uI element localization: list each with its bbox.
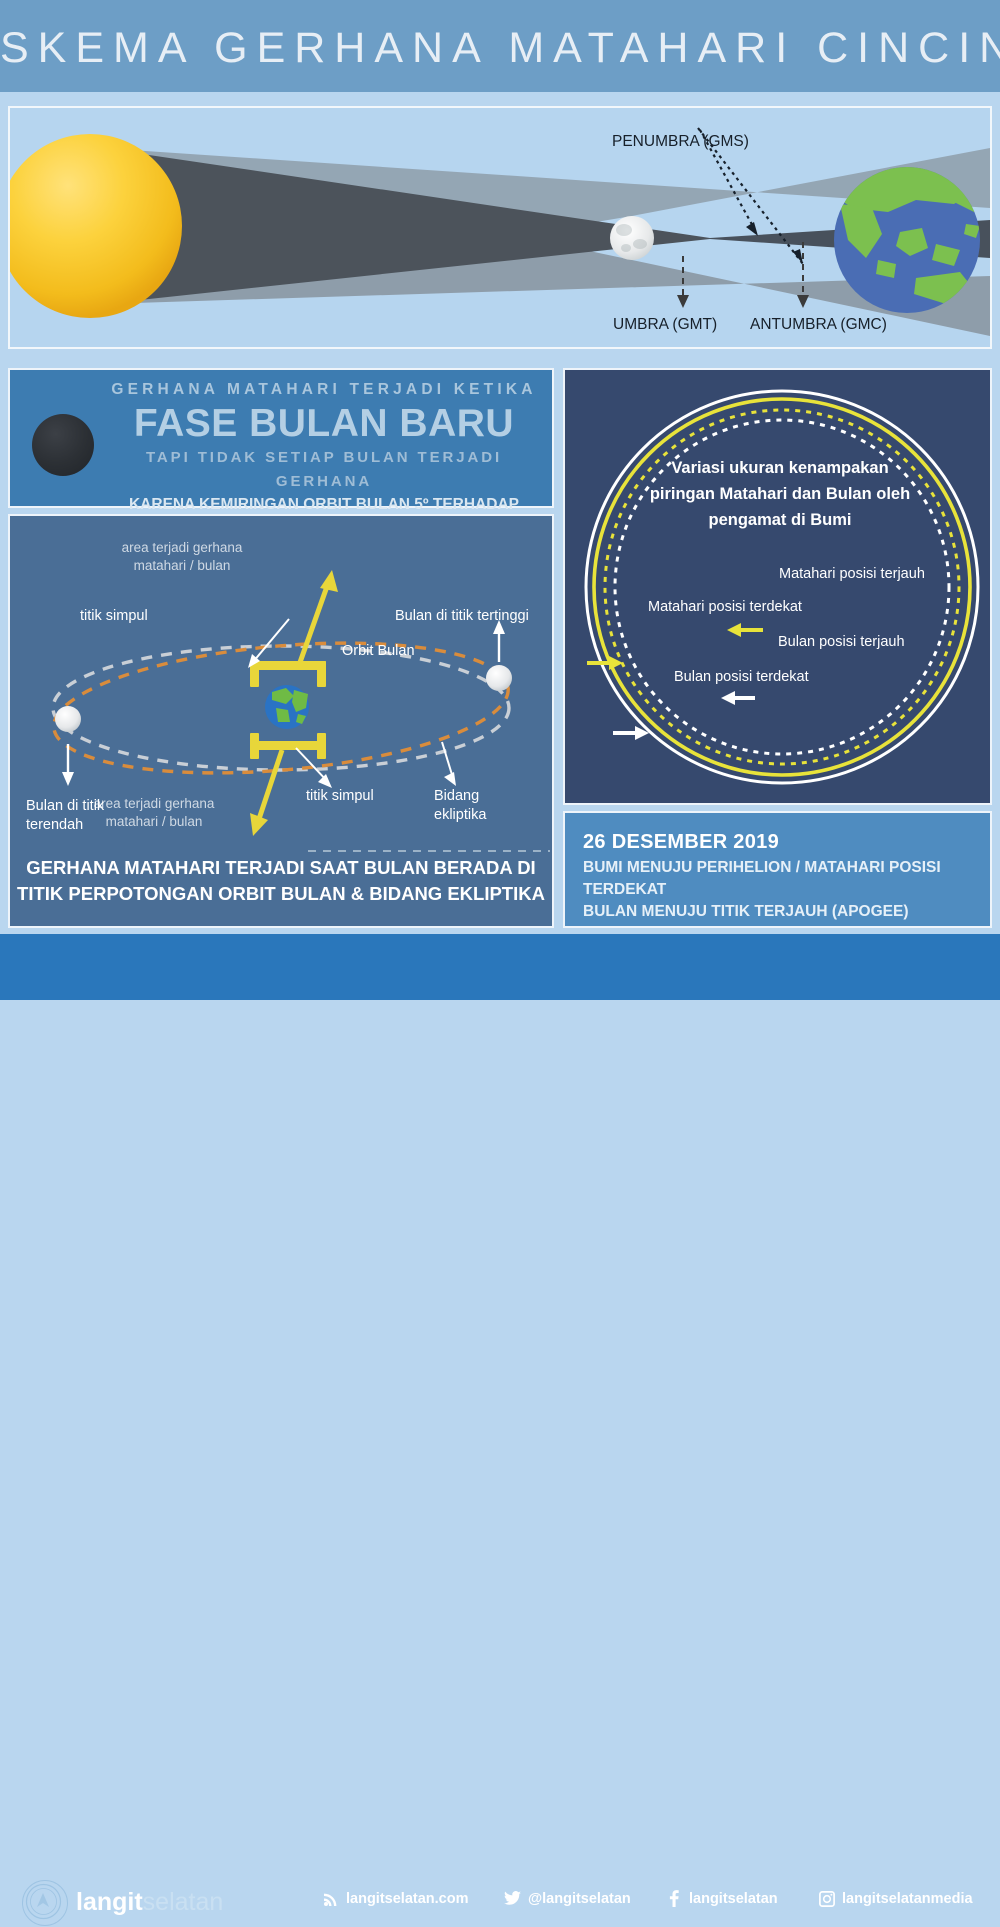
orbit-caption-line-2: TITIK PERPOTONGAN ORBIT BULAN & BIDANG E… bbox=[8, 881, 554, 907]
label-moon-far: Bulan posisi terjauh bbox=[778, 634, 905, 650]
facebook-text: langitselatan bbox=[689, 1891, 778, 1907]
node-marker-bottom bbox=[250, 733, 326, 759]
ring-moon-far-solid bbox=[586, 391, 978, 783]
facebook-icon bbox=[665, 1890, 682, 1907]
rings-title-line-1: Variasi ukuran kenampakan bbox=[620, 455, 940, 481]
instagram-text: langitselatanmedia bbox=[842, 1891, 973, 1907]
moon-icon bbox=[610, 216, 654, 260]
label-moon-near: Bulan posisi terdekat bbox=[674, 669, 809, 685]
label-antumbra: ANTUMBRA (GMC) bbox=[750, 316, 887, 334]
rings-title: Variasi ukuran kenampakan piringan Matah… bbox=[620, 455, 940, 533]
website-text: langitselatan.com bbox=[346, 1891, 468, 1907]
label-node-bottom: titik simpul bbox=[306, 787, 374, 806]
footer-facebook[interactable]: langitselatan bbox=[665, 1890, 778, 1907]
rings-title-line-3: pengamat di Bumi bbox=[620, 507, 940, 533]
langitselatan-seal-logo bbox=[22, 1880, 68, 1926]
eclipse-date-sub-1: BUMI MENUJU PERIHELION / MATAHARI POSISI… bbox=[583, 857, 990, 901]
fase-line-1: GERHANA MATAHARI TERJADI KETIKA bbox=[102, 378, 546, 402]
brand-bold: langit bbox=[76, 1888, 143, 1916]
node-marker-top bbox=[250, 661, 326, 687]
arrow-sun-far bbox=[727, 623, 763, 637]
eclipse-date-sub-2: BULAN MENUJU TITIK TERJAUH (APOGEE) bbox=[583, 901, 990, 923]
orbit-caption-line-1: GERHANA MATAHARI TERJADI SAAT BULAN BERA… bbox=[8, 855, 554, 881]
orbit-caption: GERHANA MATAHARI TERJADI SAAT BULAN BERA… bbox=[8, 855, 554, 907]
label-penumbra: PENUMBRA (GMS) bbox=[612, 133, 749, 151]
label-sun-near: Matahari posisi terdekat bbox=[648, 599, 802, 615]
label-moon-highest: Bulan di titik tertinggi bbox=[395, 607, 529, 626]
moon-highest-icon bbox=[486, 665, 512, 691]
arrow-moon-near bbox=[613, 726, 649, 740]
rss-icon bbox=[322, 1890, 339, 1907]
label-orbit-bulan: Orbit Bulan bbox=[342, 642, 415, 661]
infographic-root: SKEMA GERHANA MATAHARI CINCIN bbox=[0, 0, 1000, 1000]
eclipse-area-arrow-top bbox=[298, 578, 330, 668]
label-moon-lowest: Bulan di titik terendah bbox=[26, 797, 104, 835]
label-node-top: titik simpul bbox=[80, 607, 148, 626]
new-moon-icon bbox=[32, 414, 94, 476]
header-bar: SKEMA GERHANA MATAHARI CINCIN bbox=[0, 0, 1000, 92]
twitter-icon bbox=[504, 1890, 521, 1907]
footer-bar: langitselatan langitselatan.com @langits… bbox=[0, 934, 1000, 1000]
eclipse-diagram bbox=[8, 106, 992, 349]
new-moon-phase-panel: GERHANA MATAHARI TERJADI KETIKA FASE BUL… bbox=[8, 368, 554, 508]
label-sun-far: Matahari posisi terjauh bbox=[779, 566, 925, 582]
arrow-moon-far bbox=[721, 691, 755, 705]
label-area-top: area terjadi gerhana matahari / bulan bbox=[102, 539, 262, 575]
moon-lowest-icon bbox=[55, 706, 81, 732]
twitter-text: @langitselatan bbox=[528, 1891, 631, 1907]
brand-light: selatan bbox=[143, 1888, 224, 1916]
fase-line-3: TAPI TIDAK SETIAP BULAN TERJADI GERHANA bbox=[102, 446, 546, 494]
instagram-icon bbox=[818, 1890, 835, 1907]
rings-title-line-2: piringan Matahari dan Bulan oleh bbox=[620, 481, 940, 507]
brand-wordmark: langitselatan bbox=[76, 1886, 223, 1918]
eclipse-date-block: 26 DESEMBER 2019 BUMI MENUJU PERIHELION … bbox=[563, 811, 992, 928]
leader-node-top bbox=[253, 619, 289, 662]
label-umbra: UMBRA (GMT) bbox=[613, 316, 717, 334]
eclipse-area-arrow-bottom bbox=[256, 750, 282, 828]
leader-ecliptic bbox=[442, 742, 453, 778]
eclipse-date: 26 DESEMBER 2019 bbox=[583, 827, 990, 857]
apparent-size-panel bbox=[563, 368, 992, 805]
footer-instagram[interactable]: langitselatanmedia bbox=[818, 1890, 973, 1907]
page-title: SKEMA GERHANA MATAHARI CINCIN bbox=[0, 24, 1000, 73]
label-bidang-ekliptika: Bidang ekliptika bbox=[434, 787, 486, 825]
footer-website[interactable]: langitselatan.com bbox=[322, 1890, 468, 1907]
footer-twitter[interactable]: @langitselatan bbox=[504, 1890, 631, 1907]
fase-line-2: FASE BULAN BARU bbox=[102, 402, 546, 446]
